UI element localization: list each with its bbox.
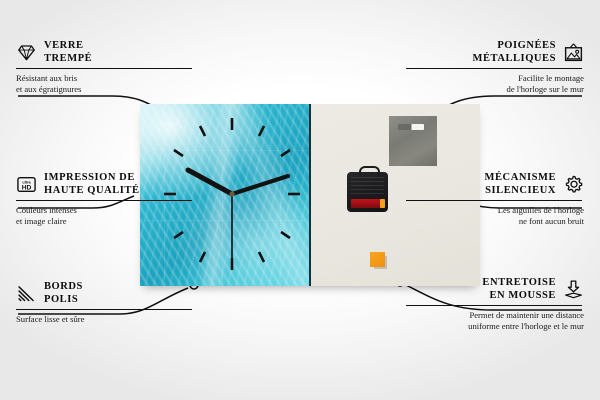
feature-title: ENTRETOISE EN MOUSSE: [482, 277, 556, 302]
feature-description: Les aiguilles de l'horloge ne font aucun…: [406, 205, 584, 226]
feature-title: IMPRESSION DE HAUTE QUALITÉ: [44, 172, 140, 197]
feature-desc-line1: Facilite le montage: [406, 73, 584, 84]
feature-mecanisme-silencieux: MÉCANISME SILENCIEUX Les aiguilles de l'…: [406, 172, 584, 226]
feature-title: POIGNÉES MÉTALLIQUES: [473, 40, 556, 65]
feature-verre-trempe: VERRE TREMPÉ Résistant aux bris et aux é…: [16, 40, 194, 94]
infographic-canvas: VERRE TREMPÉ Résistant aux bris et aux é…: [0, 0, 600, 400]
clock-center-cap: [229, 191, 234, 196]
feature-impression-haute-qualite: ultra HD IMPRESSION DE HAUTE QUALITÉ Cou…: [16, 172, 194, 226]
battery: [351, 199, 384, 208]
feature-header: MÉCANISME SILENCIEUX: [406, 172, 584, 197]
feature-title-line2: POLIS: [44, 294, 83, 307]
feature-title-line2: MÉTALLIQUES: [473, 53, 556, 66]
feature-title-line1: ENTRETOISE: [482, 277, 556, 290]
feature-divider: [16, 68, 192, 69]
feature-title-line2: SILENCIEUX: [485, 185, 556, 198]
feature-description: Résistant aux bris et aux égratignures: [16, 73, 194, 94]
feature-description: Couleurs intenses et image claire: [16, 205, 194, 226]
feature-title: MÉCANISME SILENCIEUX: [485, 172, 556, 197]
tick-7: [200, 252, 205, 262]
quartz-movement-box: [347, 172, 388, 212]
feature-title-line2: TREMPÉ: [44, 53, 92, 66]
feature-title-line1: BORDS: [44, 281, 83, 294]
tick-4: [281, 232, 290, 238]
feature-desc-line2: et image claire: [16, 216, 194, 227]
tick-5: [259, 252, 264, 262]
movement-body-detail: [351, 177, 384, 195]
hour-hand: [188, 170, 232, 194]
feature-desc-line1: Permet de maintenir une distance: [406, 310, 584, 321]
metal-hanger-plate: [389, 116, 437, 166]
feature-divider: [406, 200, 582, 201]
feature-header: POIGNÉES MÉTALLIQUES: [406, 40, 584, 65]
ultra-hd-icon: ultra HD: [16, 174, 37, 195]
feature-description: Facilite le montage de l'horloge sur le …: [406, 73, 584, 94]
feature-header: VERRE TREMPÉ: [16, 40, 194, 65]
movement-hanging-loop: [359, 166, 380, 177]
feature-title-line2: EN MOUSSE: [482, 290, 556, 303]
tick-2: [281, 150, 290, 156]
feature-bords-polis: BORDS POLIS Surface lisse et sûre: [16, 281, 194, 325]
feature-desc-line1: Les aiguilles de l'horloge: [406, 205, 584, 216]
tick-10: [174, 150, 183, 156]
feature-desc-line1: Surface lisse et sûre: [16, 314, 194, 325]
feature-divider: [406, 68, 582, 69]
feature-desc-line1: Couleurs intenses: [16, 205, 194, 216]
feature-title: VERRE TREMPÉ: [44, 40, 92, 65]
tick-8: [174, 232, 183, 238]
feature-header: ultra HD IMPRESSION DE HAUTE QUALITÉ: [16, 172, 194, 197]
feature-divider: [406, 305, 582, 306]
tick-1: [259, 126, 264, 136]
feature-divider: [16, 200, 192, 201]
feature-desc-line2: uniforme entre l'horloge et le mur: [406, 321, 584, 332]
feature-header: BORDS POLIS: [16, 281, 194, 306]
polished-edge-icon: [16, 283, 37, 304]
tick-11: [200, 126, 205, 136]
diamond-icon: [16, 42, 37, 63]
hanger-keyhole-slot: [398, 124, 424, 130]
feature-title-line1: IMPRESSION DE: [44, 172, 140, 185]
feature-title-line1: MÉCANISME: [485, 172, 556, 185]
svg-text:HD: HD: [22, 184, 32, 191]
feature-poignees-metalliques: POIGNÉES MÉTALLIQUES Facilite le montage…: [406, 40, 584, 94]
feature-title: BORDS POLIS: [44, 281, 83, 306]
feature-title-line1: POIGNÉES: [473, 40, 556, 53]
foam-spacer: [370, 252, 385, 267]
feature-divider: [16, 309, 192, 310]
feature-desc-line1: Résistant aux bris: [16, 73, 194, 84]
feature-desc-line2: ne font aucun bruit: [406, 216, 584, 227]
feature-entretoise-en-mousse: ENTRETOISE EN MOUSSE Permet de maintenir…: [406, 277, 584, 331]
minute-hand: [232, 176, 288, 194]
hanging-frame-icon: [563, 42, 584, 63]
gear-icon: [563, 174, 584, 195]
feature-description: Permet de maintenir une distance uniform…: [406, 310, 584, 331]
feature-desc-line2: et aux égratignures: [16, 84, 194, 95]
feature-header: ENTRETOISE EN MOUSSE: [406, 277, 584, 302]
feature-desc-line2: de l'horloge sur le mur: [406, 84, 584, 95]
feature-title-line1: VERRE: [44, 40, 92, 53]
feature-description: Surface lisse et sûre: [16, 314, 194, 325]
feature-title-line2: HAUTE QUALITÉ: [44, 185, 140, 198]
arrow-onto-pad-icon: [563, 279, 584, 300]
